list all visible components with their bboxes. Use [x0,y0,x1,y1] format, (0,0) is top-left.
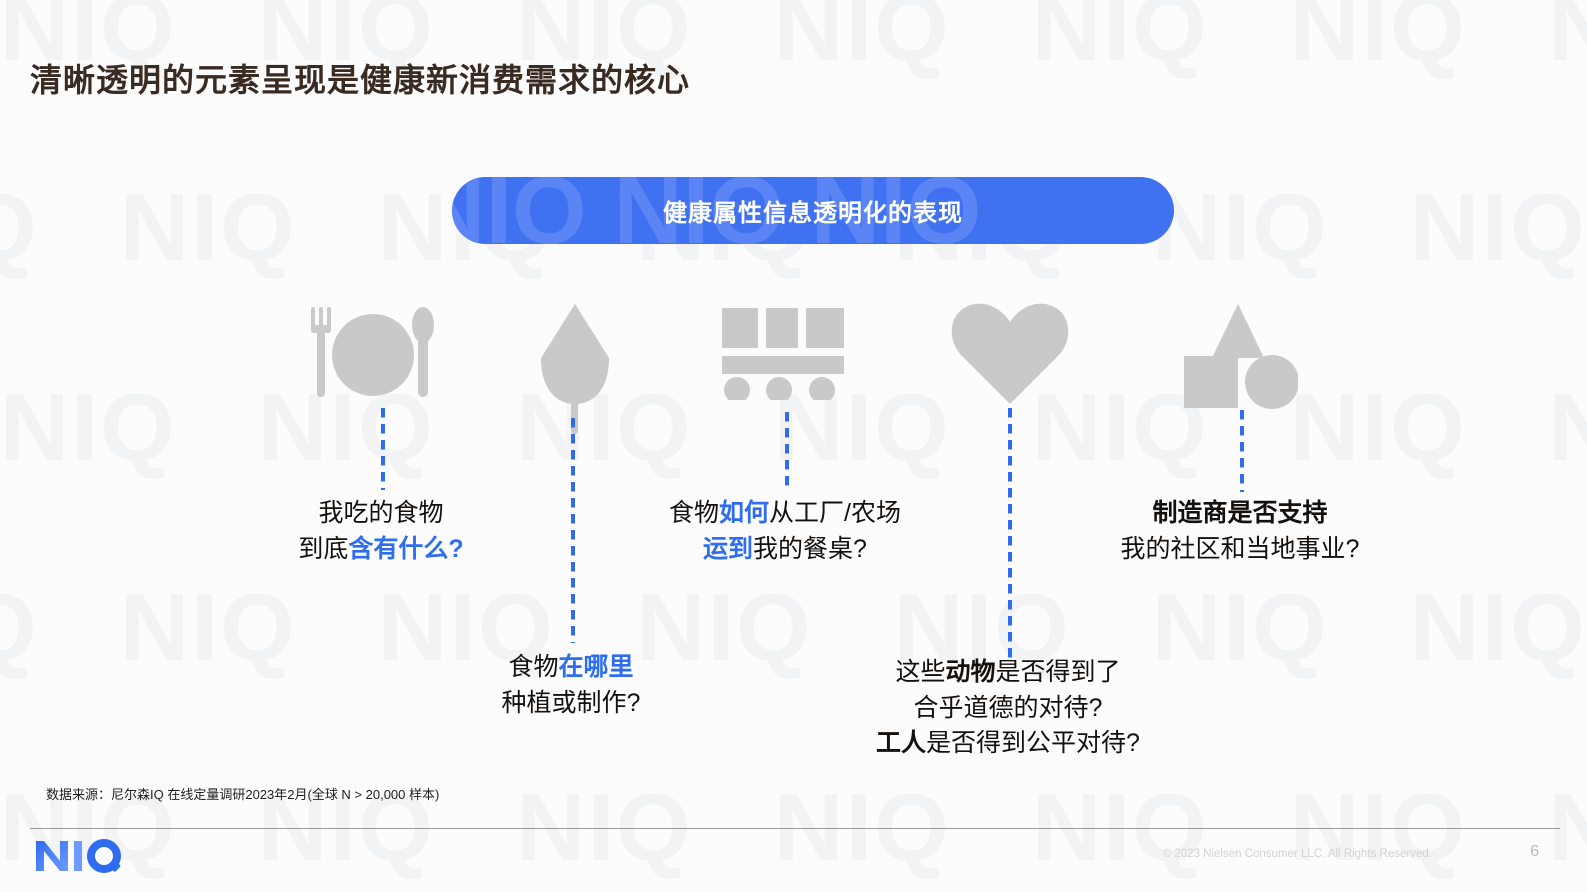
page-title: 清晰透明的元素呈现是健康新消费需求的核心 [30,55,690,101]
callout-segment: 工人 [876,729,926,757]
callout-line: 到底含有什么? [261,532,501,568]
background-watermark: NIQNIQNIQNIQNIQNIQNIQNIQNIQNIQNIQNIQNIQN… [0,0,1587,892]
watermark-tile: NIQ [0,580,39,676]
watermark-tile: NIQ [1290,380,1467,476]
heart-icon [950,300,1070,413]
section-banner: NIQ NIQ NIQ 健康属性信息透明化的表现 [452,177,1174,244]
callout-segment: ? [448,535,463,563]
watermark-tile: NIQ [1290,0,1467,76]
callout-text-3: 食物如何从工厂/农场运到我的餐桌? [625,496,945,567]
dining-set-icon [303,303,443,408]
delivery-truck-icon [722,308,847,405]
callout-segment: 食物 [669,499,719,527]
watermark-tile: NIQ [774,0,951,76]
watermark-tile: NIQ [120,580,297,676]
data-source-note: 数据来源：尼尔森IQ 在线定量调研2023年2月(全球 N > 20,000 样… [46,784,439,803]
watermark-tile: NIQ [1152,180,1329,276]
callout-line: 种植或制作? [451,686,691,722]
callout-line: 我的社区和当地事业? [1060,532,1420,568]
connector-line-2 [571,418,575,643]
connector-line-3 [785,412,789,490]
shapes-icon [1178,300,1298,415]
callout-segment: 种植或制作? [502,689,641,717]
callout-text-1: 我吃的食物到底含有什么? [261,496,501,567]
callout-line: 这些动物是否得到了 [848,655,1168,691]
niq-logo [34,838,130,879]
watermark-tile: NIQ [1410,580,1587,676]
callout-segment: 这些 [895,658,945,686]
callout-segment: 合乎道德的对待? [914,694,1103,722]
watermark-tile: NIQ [1032,0,1209,76]
callout-line: 运到我的餐桌? [625,532,945,568]
connector-line-1 [381,408,385,490]
callout-segment: 从工厂/农场 [769,499,901,527]
callout-segment: 含有什么 [348,535,448,563]
footer-divider [30,828,1560,829]
callout-segment: 我的社区和当地事业? [1121,535,1360,563]
callout-text-4: 这些动物是否得到了合乎道德的对待?工人是否得到公平对待? [848,655,1168,762]
callout-segment: 食物 [508,653,558,681]
callout-segment: 我的餐桌? [753,535,867,563]
callout-segment: 在哪里 [559,653,634,681]
page-number: 6 [1530,843,1539,861]
watermark-tile: NIQ [1410,180,1587,276]
leaf-icon [535,300,615,440]
watermark-tile: NIQ [1152,580,1329,676]
callout-line: 制造商是否支持 [1060,496,1420,532]
watermark-tile: NIQ [1548,0,1587,76]
connector-line-5 [1240,410,1244,492]
callout-segment: 运到 [703,535,753,563]
callout-line: 食物如何从工厂/农场 [625,496,945,532]
callout-line: 食物在哪里 [451,650,691,686]
watermark-tile: NIQ [0,380,177,476]
slide-canvas: NIQNIQNIQNIQNIQNIQNIQNIQNIQNIQNIQNIQNIQN… [0,0,1587,892]
callout-segment: 如何 [719,499,769,527]
callout-segment: 动物 [945,658,995,686]
callout-segment: 是否得到了 [996,658,1121,686]
callout-text-5: 制造商是否支持我的社区和当地事业? [1060,496,1420,567]
callout-line: 工人是否得到公平对待? [848,726,1168,762]
connector-line-4 [1008,408,1012,660]
callout-segment: 制造商是否支持 [1152,499,1327,527]
watermark-tile: NIQ [120,180,297,276]
callout-line: 合乎道德的对待? [848,691,1168,727]
watermark-tile: NIQ [0,180,39,276]
copyright-notice: © 2023 Nielsen Consumer LLC. All Rights … [1163,848,1432,860]
callout-line: 我吃的食物 [261,496,501,532]
callout-segment: 到底 [298,535,348,563]
section-banner-label: 健康属性信息透明化的表现 [452,177,1174,244]
callout-segment: 是否得到公平对待? [926,729,1140,757]
callout-segment: 我吃的食物 [318,499,443,527]
callout-text-2: 食物在哪里种植或制作? [451,650,691,721]
watermark-tile: NIQ [1548,380,1587,476]
